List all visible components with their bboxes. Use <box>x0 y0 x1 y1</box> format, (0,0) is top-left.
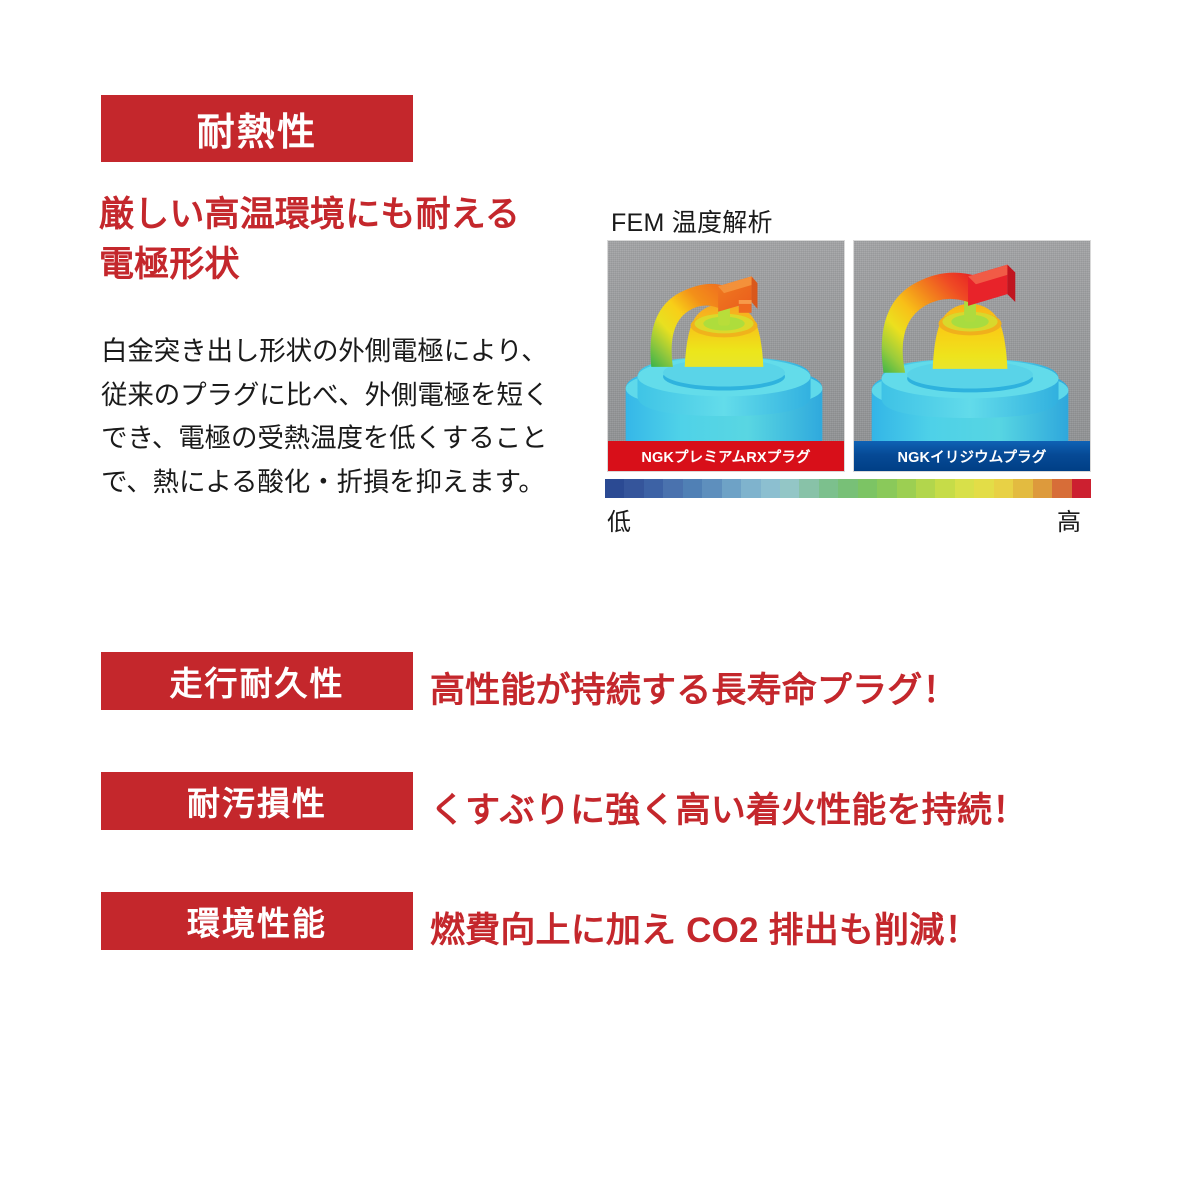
fem-panel-group: NGKプレミアムRXプラグ <box>607 240 1091 472</box>
feature-text-fouling: くすぶりに強く高い着火性能を持続！ <box>430 782 1027 833</box>
fem-analysis-title: FEM 温度解析 <box>611 203 773 239</box>
feature-badge-eco: 環境性能 <box>101 892 413 950</box>
scale-segment-0 <box>605 479 624 498</box>
scale-segment-9 <box>780 479 799 498</box>
scale-segment-17 <box>935 479 954 498</box>
heat-body-line-2: 従来のプラグに比べ、外側電極を短く <box>101 374 591 418</box>
temperature-color-scale <box>605 479 1091 498</box>
scale-segment-21 <box>1013 479 1032 498</box>
scale-segment-20 <box>994 479 1013 498</box>
fem-thermal-image-iridium <box>854 241 1090 469</box>
scale-segment-12 <box>838 479 857 498</box>
feature-badge-fouling: 耐汚損性 <box>101 772 413 830</box>
scale-segment-16 <box>916 479 935 498</box>
badge-label: 環境性能 <box>187 897 327 945</box>
scale-segment-5 <box>702 479 721 498</box>
badge-label: 耐汚損性 <box>187 777 327 825</box>
scale-segment-4 <box>683 479 702 498</box>
scale-segment-7 <box>741 479 760 498</box>
scale-segment-8 <box>761 479 780 498</box>
scale-segment-22 <box>1033 479 1052 498</box>
scale-segment-10 <box>799 479 818 498</box>
scale-segment-2 <box>644 479 663 498</box>
fem-panel-premium-rx: NGKプレミアムRXプラグ <box>607 240 845 472</box>
heat-body-line-1: 白金突き出し形状の外側電極により、 <box>101 330 591 374</box>
fem-caption-iridium: NGKイリジウムプラグ <box>854 441 1090 471</box>
scale-segment-1 <box>624 479 643 498</box>
scale-segment-6 <box>722 479 741 498</box>
fem-caption-premium-rx: NGKプレミアムRXプラグ <box>608 441 844 471</box>
heat-body-copy: 白金突き出し形状の外側電極により、 従来のプラグに比べ、外側電極を短く でき、電… <box>101 330 591 505</box>
scale-label-high: 高 <box>1057 502 1081 537</box>
heat-body-line-4: で、熱による酸化・折損を抑えます。 <box>101 461 591 505</box>
scale-segment-13 <box>858 479 877 498</box>
feature-text-eco: 燃費向上に加え CO2 排出も削減！ <box>430 902 980 953</box>
scale-segment-23 <box>1052 479 1071 498</box>
scale-segment-18 <box>955 479 974 498</box>
scale-segment-15 <box>897 479 916 498</box>
badge-label: 耐熱性 <box>197 101 318 156</box>
scale-label-low: 低 <box>607 502 631 537</box>
badge-label: 走行耐久性 <box>170 657 345 705</box>
scale-segment-14 <box>877 479 896 498</box>
scale-segment-24 <box>1072 479 1091 498</box>
feature-text-durability: 高性能が持続する長寿命プラグ！ <box>430 662 958 713</box>
fem-thermal-image-premium-rx <box>608 241 844 469</box>
scale-segment-19 <box>974 479 993 498</box>
heat-subheading-line-1: 厳しい高温環境にも耐える <box>99 190 619 240</box>
infographic-page: 耐熱性 厳しい高温環境にも耐える 電極形状 白金突き出し形状の外側電極により、 … <box>0 0 1200 1200</box>
fem-panel-iridium: NGKイリジウムプラグ <box>853 240 1091 472</box>
scale-segment-11 <box>819 479 838 498</box>
heat-subheading: 厳しい高温環境にも耐える 電極形状 <box>99 190 619 289</box>
section-badge-heat-resistance: 耐熱性 <box>101 95 413 162</box>
scale-segment-3 <box>663 479 682 498</box>
fem-caption-label: NGKイリジウムプラグ <box>898 446 1047 467</box>
heat-subheading-line-2: 電極形状 <box>99 240 619 290</box>
fem-caption-label: NGKプレミアムRXプラグ <box>641 446 810 467</box>
heat-body-line-3: でき、電極の受熱温度を低くすること <box>101 417 591 461</box>
feature-badge-durability: 走行耐久性 <box>101 652 413 710</box>
